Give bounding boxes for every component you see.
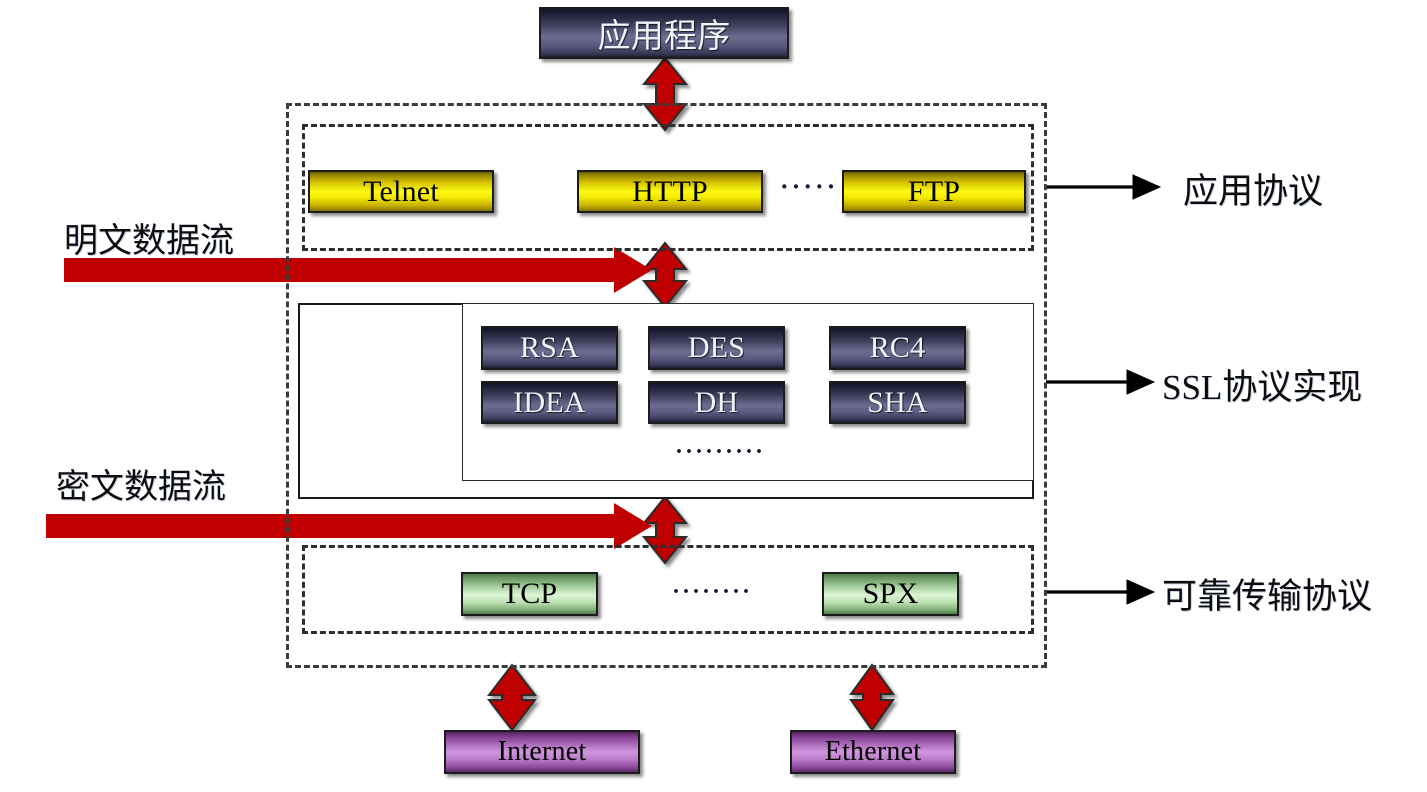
arrow-stack-to-internet xyxy=(489,665,535,730)
network-chip-internet: Internet xyxy=(444,730,640,774)
ssl-chip-sha: SHA xyxy=(829,381,966,424)
ssl-chip-dh: DH xyxy=(648,381,785,424)
ssl-chip-idea-label: IDEA xyxy=(513,386,585,420)
ssl-chip-rsa: RSA xyxy=(481,326,618,370)
protocol-chip-telnet-label: Telnet xyxy=(363,175,439,209)
ssl-layer-ellipsis: ········· xyxy=(675,440,765,464)
ssl-chip-idea: IDEA xyxy=(481,381,618,424)
protocol-chip-http-label: HTTP xyxy=(632,175,708,209)
protocol-chip-telnet: Telnet xyxy=(308,170,494,213)
ssl-chip-des: DES xyxy=(648,326,785,370)
diagram-canvas: 应用程序 Telnet HTTP ····· FTP RSA DES RC4 I… xyxy=(0,0,1427,792)
plaintext-stream-label: 明文数据流 xyxy=(64,213,234,262)
ssl-layer-side-label: SSL协议实现 xyxy=(1162,359,1362,410)
app-program-label: 应用程序 xyxy=(598,9,731,57)
ssl-chip-dh-label: DH xyxy=(695,386,739,420)
protocol-chip-ftp: FTP xyxy=(842,170,1026,213)
transport-chip-spx: SPX xyxy=(822,572,959,616)
transport-chip-spx-label: SPX xyxy=(863,577,919,611)
network-chip-ethernet-label: Ethernet xyxy=(825,736,921,768)
ssl-chip-rsa-label: RSA xyxy=(520,331,579,365)
ssl-chip-rc4: RC4 xyxy=(829,326,966,370)
application-layer-ellipsis: ····· xyxy=(780,174,838,200)
application-layer-side-label: 应用协议 xyxy=(1183,163,1323,214)
transport-chip-tcp: TCP xyxy=(461,572,598,616)
ssl-chip-des-label: DES xyxy=(688,331,745,365)
protocol-chip-ftp-label: FTP xyxy=(908,175,960,209)
transport-layer-side-label: 可靠传输协议 xyxy=(1162,568,1372,619)
ciphertext-stream-label: 密文数据流 xyxy=(56,459,226,508)
network-chip-ethernet: Ethernet xyxy=(790,730,956,774)
transport-layer-ellipsis: ········ xyxy=(672,580,752,604)
app-program-box: 应用程序 xyxy=(539,7,789,59)
protocol-chip-http: HTTP xyxy=(577,170,763,213)
network-chip-internet-label: Internet xyxy=(498,736,587,768)
ssl-chip-rc4-label: RC4 xyxy=(870,331,926,365)
ssl-chip-sha-label: SHA xyxy=(867,386,928,420)
transport-chip-tcp-label: TCP xyxy=(502,577,558,611)
arrow-stack-to-ethernet xyxy=(851,665,893,730)
